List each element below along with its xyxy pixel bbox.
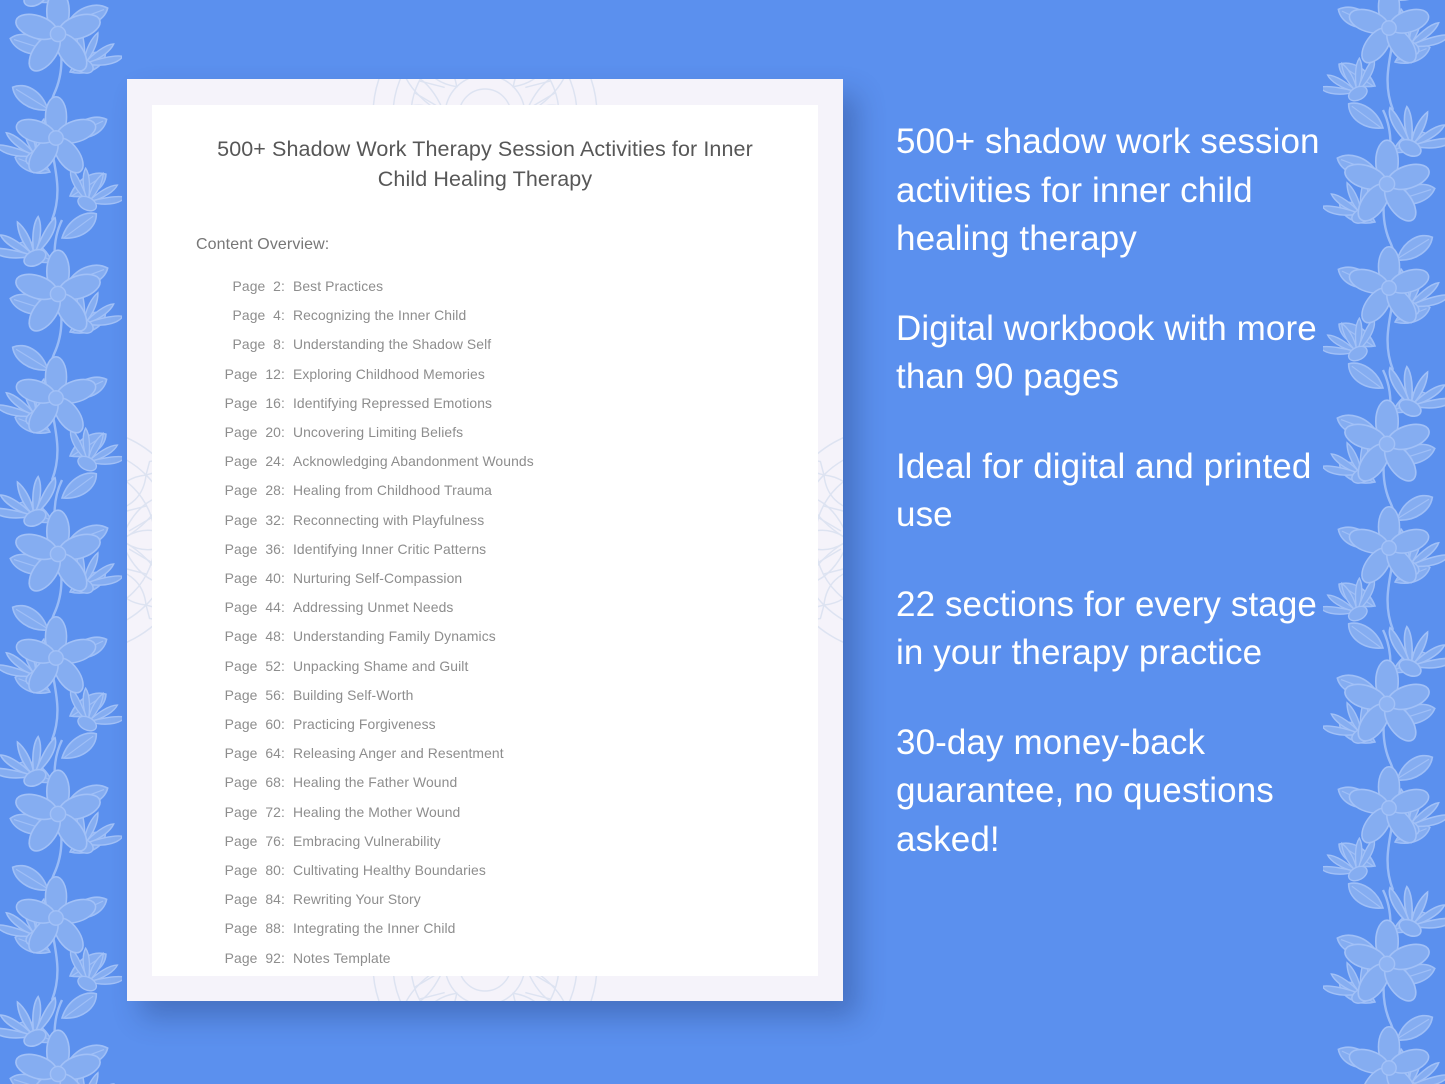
toc-entry: Page 76:Embracing Vulnerability (223, 827, 774, 856)
toc-entry-separator: : (281, 389, 285, 418)
toc-entry-title: Unpacking Shame and Guilt (293, 652, 774, 681)
toc-entry-page: Page 76 (223, 827, 281, 856)
toc-entry-page: Page 80 (223, 856, 281, 885)
toc-entry: Page 32:Reconnecting with Playfulness (223, 506, 774, 535)
toc-entry-page: Page 32 (223, 506, 281, 535)
toc-entry-separator: : (281, 506, 285, 535)
product-preview-card: 500+ Shadow Work Therapy Session Activit… (127, 79, 843, 1001)
feature-item: Digital workbook with more than 90 pages (896, 305, 1322, 402)
toc-entry-page: Page 88 (223, 914, 281, 943)
toc-entry-page: Page 2 (223, 272, 281, 301)
feature-item: 22 sections for every stage in your ther… (896, 581, 1322, 678)
toc-entry-page: Page 44 (223, 593, 281, 622)
toc-entry: Page 68:Healing the Father Wound (223, 768, 774, 797)
table-of-contents: Page 2:Best PracticesPage 4:Recognizing … (196, 272, 774, 973)
toc-entry-separator: : (281, 652, 285, 681)
toc-entry-separator: : (281, 710, 285, 739)
toc-entry-separator: : (281, 827, 285, 856)
toc-entry: Page 56:Building Self-Worth (223, 681, 774, 710)
toc-entry-title: Rewriting Your Story (293, 885, 774, 914)
toc-entry-separator: : (281, 447, 285, 476)
toc-entry-title: Nurturing Self-Compassion (293, 564, 774, 593)
toc-entry-separator: : (281, 418, 285, 447)
toc-entry-page: Page 4 (223, 301, 281, 330)
toc-entry-page: Page 8 (223, 330, 281, 359)
toc-entry-title: Uncovering Limiting Beliefs (293, 418, 774, 447)
toc-entry: Page 44:Addressing Unmet Needs (223, 593, 774, 622)
toc-entry-page: Page 60 (223, 710, 281, 739)
toc-entry: Page 8:Understanding the Shadow Self (223, 330, 774, 359)
toc-entry-separator: : (281, 360, 285, 389)
toc-entry-title: Reconnecting with Playfulness (293, 506, 774, 535)
toc-entry-separator: : (281, 330, 285, 359)
toc-entry-page: Page 12 (223, 360, 281, 389)
toc-entry: Page 2:Best Practices (223, 272, 774, 301)
toc-entry: Page 64:Releasing Anger and Resentment (223, 739, 774, 768)
toc-entry-page: Page 56 (223, 681, 281, 710)
toc-entry-page: Page 48 (223, 622, 281, 651)
toc-entry: Page 16:Identifying Repressed Emotions (223, 389, 774, 418)
toc-entry-title: Building Self-Worth (293, 681, 774, 710)
workbook-page: 500+ Shadow Work Therapy Session Activit… (152, 105, 818, 976)
toc-entry-separator: : (281, 681, 285, 710)
toc-entry-title: Practicing Forgiveness (293, 710, 774, 739)
toc-entry-title: Embracing Vulnerability (293, 827, 774, 856)
toc-entry: Page 24:Acknowledging Abandonment Wounds (223, 447, 774, 476)
toc-entry-title: Releasing Anger and Resentment (293, 739, 774, 768)
toc-entry-page: Page 20 (223, 418, 281, 447)
page-title: 500+ Shadow Work Therapy Session Activit… (196, 135, 774, 194)
toc-entry-page: Page 40 (223, 564, 281, 593)
toc-entry-title: Understanding the Shadow Self (293, 330, 774, 359)
toc-entry-page: Page 84 (223, 885, 281, 914)
toc-entry-page: Page 52 (223, 652, 281, 681)
floral-vine-border-left (0, 0, 122, 1084)
toc-entry: Page 28:Healing from Childhood Trauma (223, 476, 774, 505)
toc-entry-page: Page 68 (223, 768, 281, 797)
feature-list: 500+ shadow work session activities for … (896, 118, 1322, 864)
toc-entry: Page 4:Recognizing the Inner Child (223, 301, 774, 330)
toc-entry: Page 40:Nurturing Self-Compassion (223, 564, 774, 593)
toc-entry-title: Healing the Father Wound (293, 768, 774, 797)
toc-entry-title: Cultivating Healthy Boundaries (293, 856, 774, 885)
toc-entry-separator: : (281, 856, 285, 885)
toc-entry-title: Best Practices (293, 272, 774, 301)
toc-entry: Page 80:Cultivating Healthy Boundaries (223, 856, 774, 885)
toc-entry-title: Healing from Childhood Trauma (293, 476, 774, 505)
toc-entry-page: Page 24 (223, 447, 281, 476)
toc-entry-separator: : (281, 535, 285, 564)
feature-item: 30-day money-back guarantee, no question… (896, 719, 1322, 865)
toc-entry-page: Page 92 (223, 944, 281, 973)
toc-entry-separator: : (281, 476, 285, 505)
toc-entry-title: Identifying Inner Critic Patterns (293, 535, 774, 564)
toc-entry-title: Healing the Mother Wound (293, 798, 774, 827)
toc-entry-page: Page 72 (223, 798, 281, 827)
toc-entry: Page 52:Unpacking Shame and Guilt (223, 652, 774, 681)
content-overview-label: Content Overview: (196, 236, 774, 254)
toc-entry-separator: : (281, 564, 285, 593)
toc-entry: Page 88:Integrating the Inner Child (223, 914, 774, 943)
feature-item: Ideal for digital and printed use (896, 443, 1322, 540)
toc-entry-title: Integrating the Inner Child (293, 914, 774, 943)
toc-entry: Page 48:Understanding Family Dynamics (223, 622, 774, 651)
toc-entry-page: Page 64 (223, 739, 281, 768)
toc-entry-separator: : (281, 301, 285, 330)
toc-entry-separator: : (281, 622, 285, 651)
toc-entry-title: Understanding Family Dynamics (293, 622, 774, 651)
toc-entry-page: Page 36 (223, 535, 281, 564)
toc-entry: Page 20:Uncovering Limiting Beliefs (223, 418, 774, 447)
toc-entry-title: Acknowledging Abandonment Wounds (293, 447, 774, 476)
toc-entry-page: Page 16 (223, 389, 281, 418)
toc-entry-title: Exploring Childhood Memories (293, 360, 774, 389)
toc-entry: Page 72:Healing the Mother Wound (223, 798, 774, 827)
toc-entry-title: Recognizing the Inner Child (293, 301, 774, 330)
toc-entry-title: Identifying Repressed Emotions (293, 389, 774, 418)
toc-entry-title: Addressing Unmet Needs (293, 593, 774, 622)
toc-entry-separator: : (281, 739, 285, 768)
toc-entry: Page 84:Rewriting Your Story (223, 885, 774, 914)
toc-entry-separator: : (281, 914, 285, 943)
toc-entry-separator: : (281, 885, 285, 914)
toc-entry: Page 92:Notes Template (223, 944, 774, 973)
feature-item: 500+ shadow work session activities for … (896, 118, 1322, 264)
toc-entry-title: Notes Template (293, 944, 774, 973)
floral-vine-border-right (1323, 0, 1445, 1084)
toc-entry-separator: : (281, 768, 285, 797)
toc-entry-separator: : (281, 593, 285, 622)
toc-entry: Page 60:Practicing Forgiveness (223, 710, 774, 739)
toc-entry-separator: : (281, 798, 285, 827)
toc-entry-separator: : (281, 944, 285, 973)
toc-entry-page: Page 28 (223, 476, 281, 505)
toc-entry: Page 36:Identifying Inner Critic Pattern… (223, 535, 774, 564)
toc-entry: Page 12:Exploring Childhood Memories (223, 360, 774, 389)
toc-entry-separator: : (281, 272, 285, 301)
